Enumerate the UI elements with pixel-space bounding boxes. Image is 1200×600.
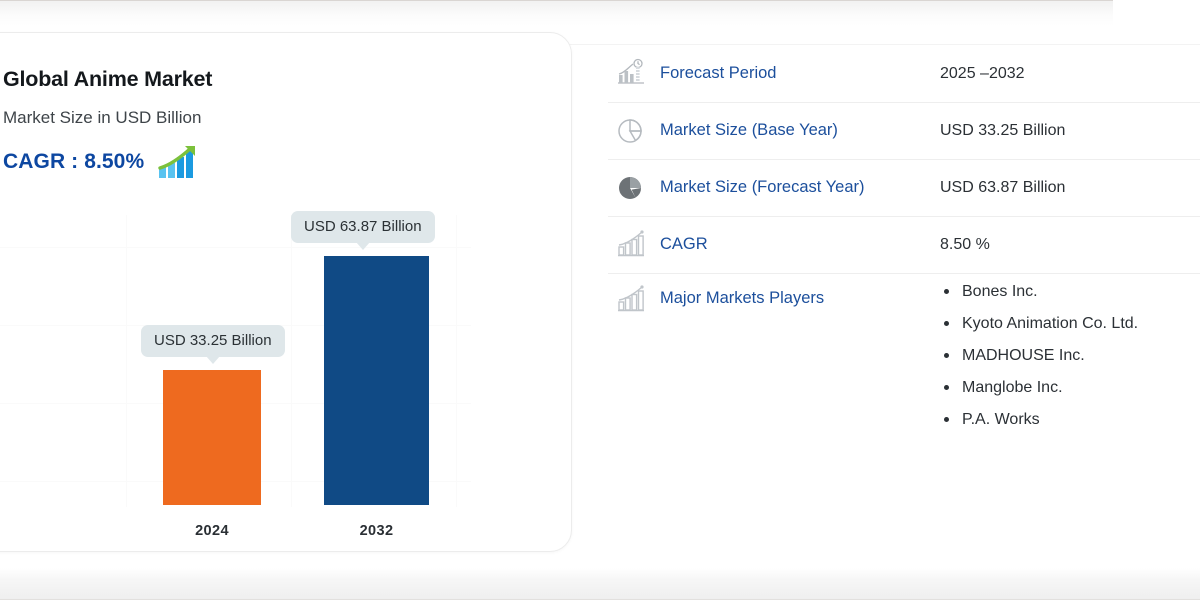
row-label: Forecast Period <box>660 46 940 84</box>
cagr-highlight-label: CAGR : 8.50% <box>3 150 144 174</box>
table-row: Major Markets Players Bones Inc. Kyoto A… <box>608 274 1200 430</box>
market-size-chart-card: Global Anime Market Market Size in USD B… <box>0 32 572 552</box>
page-root: Global Anime Market Market Size in USD B… <box>0 0 1200 600</box>
cagr-highlight: CAGR : 8.50% <box>3 145 200 179</box>
list-item: P.A. Works <box>940 410 1200 430</box>
bar-chart-growth-icon <box>608 217 660 259</box>
x-axis-label-2024: 2024 <box>163 523 261 539</box>
row-value: USD 33.25 Billion <box>940 103 1200 142</box>
row-label: Market Size (Forecast Year) <box>660 160 940 198</box>
growth-bar-chart-arrow-icon <box>158 145 200 179</box>
table-row: CAGR 8.50 % <box>608 217 1200 274</box>
bar-2024[interactable] <box>163 370 261 505</box>
bar-value-callout: USD 63.87 Billion <box>291 211 435 243</box>
gridline-vertical <box>291 215 292 507</box>
table-row: Market Size (Forecast Year) USD 63.87 Bi… <box>608 160 1200 217</box>
list-item: Kyoto Animation Co. Ltd. <box>940 314 1200 334</box>
gridline-vertical <box>126 215 127 507</box>
forecast-chart-clock-icon <box>608 46 660 88</box>
row-label: CAGR <box>660 217 940 255</box>
list-item: Bones Inc. <box>940 282 1200 302</box>
row-value: USD 63.87 Billion <box>940 160 1200 199</box>
gridline-horizontal <box>0 247 471 248</box>
row-value: Bones Inc. Kyoto Animation Co. Ltd. MADH… <box>940 274 1200 430</box>
page-chrome-gap <box>0 26 1200 27</box>
gridline-vertical <box>456 215 457 507</box>
page-title: Global Anime Market <box>3 67 212 92</box>
table-row: Forecast Period 2025 –2032 <box>608 46 1200 103</box>
pie-chart-outline-icon <box>608 103 660 145</box>
bar-chart-growth-icon <box>608 274 660 314</box>
page-chrome-top <box>0 0 1113 26</box>
bar-chart-plot: USD 33.25 Billion USD 63.87 Billion 2024… <box>0 215 471 553</box>
bar-2032[interactable] <box>324 256 429 505</box>
major-players-list: Bones Inc. Kyoto Animation Co. Ltd. MADH… <box>940 282 1200 430</box>
bar-value-callout: USD 33.25 Billion <box>141 325 285 357</box>
x-axis-label-2032: 2032 <box>324 523 429 539</box>
list-item: MADHOUSE Inc. <box>940 346 1200 366</box>
row-value: 8.50 % <box>940 217 1200 256</box>
table-row: Market Size (Base Year) USD 33.25 Billio… <box>608 103 1200 160</box>
market-details-table: Forecast Period 2025 –2032 Market Size (… <box>608 46 1200 430</box>
row-label: Market Size (Base Year) <box>660 103 940 141</box>
list-item: Manglobe Inc. <box>940 378 1200 398</box>
row-value: 2025 –2032 <box>940 46 1200 85</box>
chart-subtitle: Market Size in USD Billion <box>3 108 201 128</box>
chart-card-inner: Global Anime Market Market Size in USD B… <box>1 33 573 553</box>
pie-chart-filled-icon <box>608 160 660 202</box>
page-chrome-bottom <box>0 568 1200 600</box>
row-label: Major Markets Players <box>660 274 940 309</box>
